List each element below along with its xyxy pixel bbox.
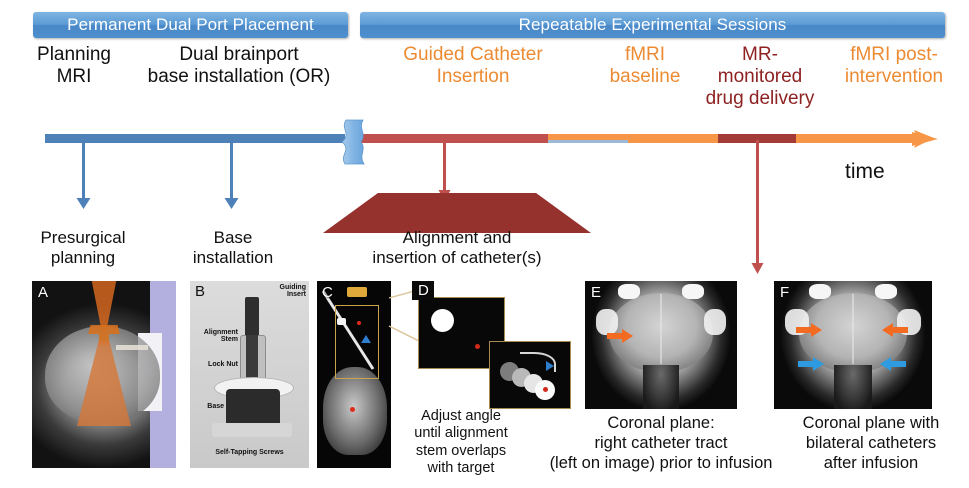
panel-e-midline: [660, 294, 662, 364]
orange-arrow-icon: [796, 323, 822, 337]
phase-header-repeatable-experimental-sessions: Repeatable Experimental Sessions: [360, 12, 945, 38]
panel-e-top-bright-r: [682, 284, 703, 299]
panel-b-label-self-tapping-screws: Self-Tapping Screws: [192, 449, 307, 456]
panel-c-target-tag: [347, 287, 367, 297]
panel-c-target-dot-deep: [350, 407, 355, 412]
step-label-base-installation: Baseinstallation: [170, 228, 296, 269]
panel-f-caption: Coronal plane withbilateral cathetersaft…: [776, 414, 966, 473]
caption-planning-mri: PlanningMRI: [14, 44, 134, 88]
blue-arrow-icon: [798, 357, 824, 371]
panel-b-label-lock-nut: Lock Nut: [192, 361, 238, 368]
panel-c-image: C: [317, 281, 391, 468]
caption-dual-brainport-base-installation: Dual brainportbase installation (OR): [128, 44, 350, 88]
right-arrow-icon: [912, 120, 952, 158]
caption-mr-monitored-drug-delivery: MR-monitoreddrug delivery: [690, 44, 830, 111]
panel-f-top-bright-r: [875, 284, 897, 299]
panel-f-midline: [852, 294, 854, 364]
panel-d-stem-disc: [431, 309, 454, 332]
down-arrow-icon: [76, 196, 91, 209]
phase-header-permanent-dual-port-placement: Permanent Dual Port Placement: [33, 12, 348, 38]
panel-b-image: GuidingInsert AlignmentStem Lock Nut Bas…: [190, 281, 309, 468]
panel-b-stem-core: [246, 335, 258, 383]
panel-f-image: F: [774, 281, 932, 409]
panel-b-label-base: Base: [192, 403, 224, 410]
panel-d-blue-pointer: [546, 361, 554, 371]
panel-letter-c: C: [322, 284, 333, 301]
step-label-alignment-insertion: Alignment andinsertion of catheter(s): [326, 228, 588, 269]
panel-c-head-volume: [323, 367, 387, 455]
caption-guided-catheter-insertion: Guided CatheterInsertion: [364, 44, 582, 88]
panel-a-trajectory-cone-upper: [87, 281, 121, 329]
panel-c-white-marker: [337, 318, 346, 325]
panel-c-target-dot: [357, 321, 361, 325]
panel-c-guide-box: [335, 305, 379, 379]
panel-letter-f: F: [780, 284, 789, 301]
panel-e-temporal-r: [704, 309, 727, 335]
alignment-trapezoid-shape: [323, 193, 591, 233]
panel-a-image: A: [32, 281, 176, 468]
caption-fmri-post-intervention: fMRI post-intervention: [824, 44, 964, 88]
down-arrow-icon: [224, 196, 239, 209]
panel-letter-e: E: [591, 284, 601, 301]
panel-e-top-bright-l: [618, 284, 639, 299]
connector-line-alignment: [443, 140, 446, 190]
panel-d-letter-badge: D: [412, 281, 434, 300]
panel-d-target-dot: [475, 344, 480, 349]
orange-arrow-icon: [607, 329, 633, 343]
panel-letter-a: A: [38, 284, 48, 301]
panel-a-marker-bar: [116, 345, 148, 350]
time-axis-label: time: [845, 160, 885, 184]
panel-f-top-bright-l: [809, 284, 831, 299]
timeline-segment-thin-blue: [548, 140, 628, 143]
panel-d-view-aligned: [489, 341, 571, 409]
timeline-segment-red: [352, 134, 548, 143]
panel-b-label-guiding-insert: GuidingInsert: [254, 284, 306, 299]
down-arrow-icon: [750, 261, 765, 274]
caption-fmri-baseline: fMRIbaseline: [586, 44, 704, 88]
blue-arrow-icon: [880, 357, 906, 371]
connector-line-presurgical: [82, 140, 85, 198]
panel-d-caption: Adjust angleuntil alignmentstem overlaps…: [404, 408, 518, 478]
connector-line-base-installation: [230, 140, 233, 198]
timeline-segment-blue: [45, 134, 345, 143]
panel-f-neck: [834, 365, 872, 409]
panel-letter-d: D: [418, 282, 429, 299]
panel-e-neck: [643, 365, 679, 409]
figure-canvas: Permanent Dual Port Placement Repeatable…: [0, 0, 969, 488]
panel-e-image: E: [585, 281, 737, 409]
panel-d-target-dot-2: [543, 387, 548, 392]
panel-b-mount-plate: [212, 423, 292, 437]
step-label-presurgical-planning: Presurgicalplanning: [18, 228, 148, 269]
timeline-segment-orange-2: [796, 134, 921, 143]
panel-c-blue-pointer: [361, 335, 371, 343]
panel-e-caption: Coronal plane:right catheter tract(left …: [524, 414, 798, 473]
panel-b-label-alignment-stem: AlignmentStem: [192, 329, 238, 344]
connector-line-drug-delivery: [756, 140, 759, 263]
orange-arrow-icon: [882, 323, 908, 337]
panel-letter-b: B: [195, 283, 205, 300]
timeline-break-icon: [336, 119, 368, 165]
